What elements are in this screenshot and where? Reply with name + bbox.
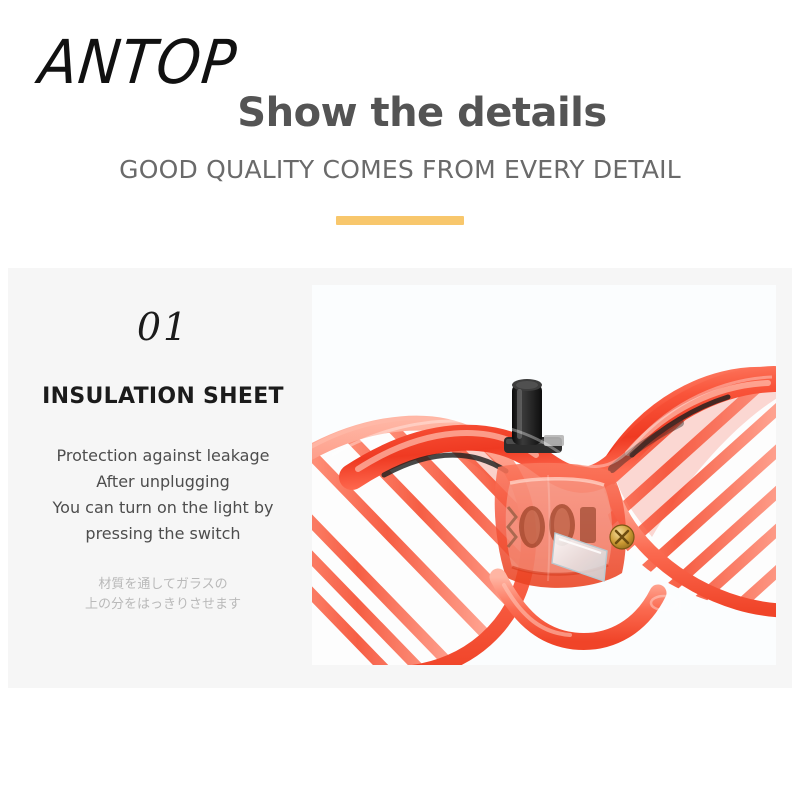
product-detail-page: ANTOP Show the details GOOD QUALITY COME… <box>0 0 800 800</box>
page-title: Show the details <box>0 90 800 136</box>
feature-title: INSULATION SHEET <box>18 384 308 409</box>
feature-body-line: After unplugging <box>18 469 308 495</box>
feature-japanese-line: 材質を通してガラスの <box>18 575 308 595</box>
phillips-screw <box>610 525 634 549</box>
feature-description-japanese: 材質を通してガラスの 上の分をはっきりさせます <box>18 575 308 615</box>
product-photo <box>312 285 776 665</box>
brand-logo: ANTOP <box>36 34 240 94</box>
feature-body-line: pressing the switch <box>18 521 308 547</box>
feature-text-column: 01 INSULATION SHEET Protection against l… <box>18 308 308 615</box>
feature-panel: 01 INSULATION SHEET Protection against l… <box>8 268 792 688</box>
feature-body-line: Protection against leakage <box>18 443 308 469</box>
accent-divider <box>336 216 464 225</box>
page-header: ANTOP Show the details GOOD QUALITY COME… <box>0 0 800 268</box>
feature-japanese-line: 上の分をはっきりさせます <box>18 595 308 615</box>
feature-step-number: 01 <box>18 308 308 346</box>
feature-description: Protection against leakage After unplugg… <box>18 443 308 547</box>
feature-body-line: You can turn on the light by <box>18 495 308 521</box>
page-subtitle: GOOD QUALITY COMES FROM EVERY DETAIL <box>0 155 800 184</box>
shutter-shades-illustration <box>312 285 776 665</box>
battery-housing <box>495 463 626 588</box>
